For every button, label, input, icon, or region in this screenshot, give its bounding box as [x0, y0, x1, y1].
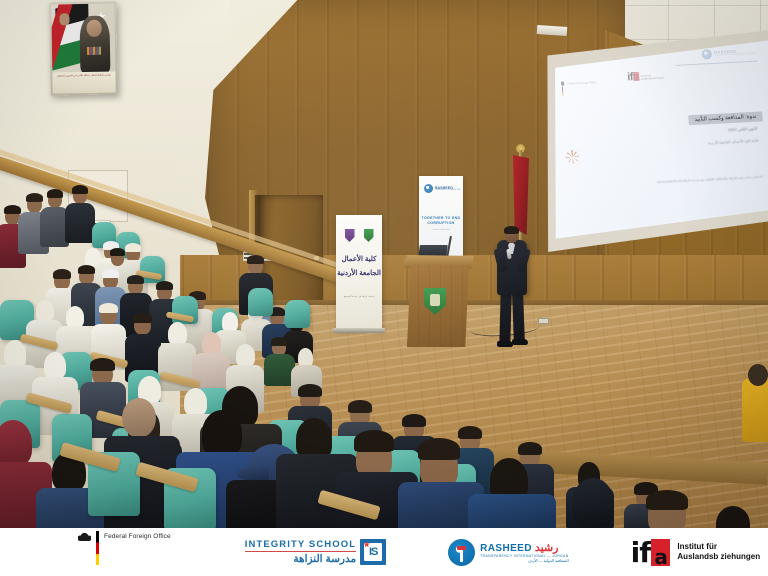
auditorium-photograph: ★ صاحب الجلالة الملك عبدالله الثاني ابن …: [0, 0, 768, 528]
rasheed-text: RASHEED رشيد TRANSPARENCY INTERNATIONAL …: [480, 541, 568, 563]
integrity-school-text: INTEGRITY SCHOOL مدرسة النزاهة: [245, 539, 356, 565]
ifa-red-square-icon: [651, 539, 670, 566]
rasheed-label-ar: رشيد: [535, 541, 559, 554]
ifa-mark: if: [631, 539, 671, 566]
german-flag-stripe-icon: [96, 531, 99, 565]
rasheed-wordmarks: RASHEED رشيد: [480, 541, 568, 554]
german-eagle-icon: [78, 532, 91, 544]
integrity-school-label-ar: مدرسة النزاهة: [245, 553, 356, 565]
ifa-mark-prefix: if: [631, 540, 651, 566]
sponsor-logo-bar: Federal Foreign Office INTEGRITY SCHOOL …: [0, 528, 768, 576]
photo-grade: [0, 0, 768, 528]
integrity-school-label-en: INTEGRITY SCHOOL: [245, 539, 356, 550]
rasheed-label-en: RASHEED: [480, 543, 532, 554]
rasheed-logo: RASHEED رشيد TRANSPARENCY INTERNATIONAL …: [448, 528, 568, 576]
federal-foreign-office-logo: Federal Foreign Office: [78, 528, 171, 576]
ifa-line1: Institut für: [677, 542, 760, 552]
integrity-school-monogram-icon: [360, 539, 386, 565]
rasheed-emblem-icon: [448, 539, 475, 566]
ifa-line2: Auslandsb ziehungen: [677, 552, 760, 562]
federal-foreign-office-label: Federal Foreign Office: [104, 533, 171, 540]
integrity-school-logo: INTEGRITY SCHOOL مدرسة النزاهة: [245, 528, 386, 576]
integrity-school-rule: [245, 551, 356, 552]
screenshot-root: ★ صاحب الجلالة الملك عبدالله الثاني ابن …: [0, 0, 768, 576]
rasheed-sub-ar: الشفافية الدولية — الأردن: [480, 558, 568, 563]
ifa-text: Institut für Auslandsb ziehungen: [677, 542, 760, 562]
ifa-logo: if Institut für Auslandsb ziehungen: [631, 528, 760, 576]
